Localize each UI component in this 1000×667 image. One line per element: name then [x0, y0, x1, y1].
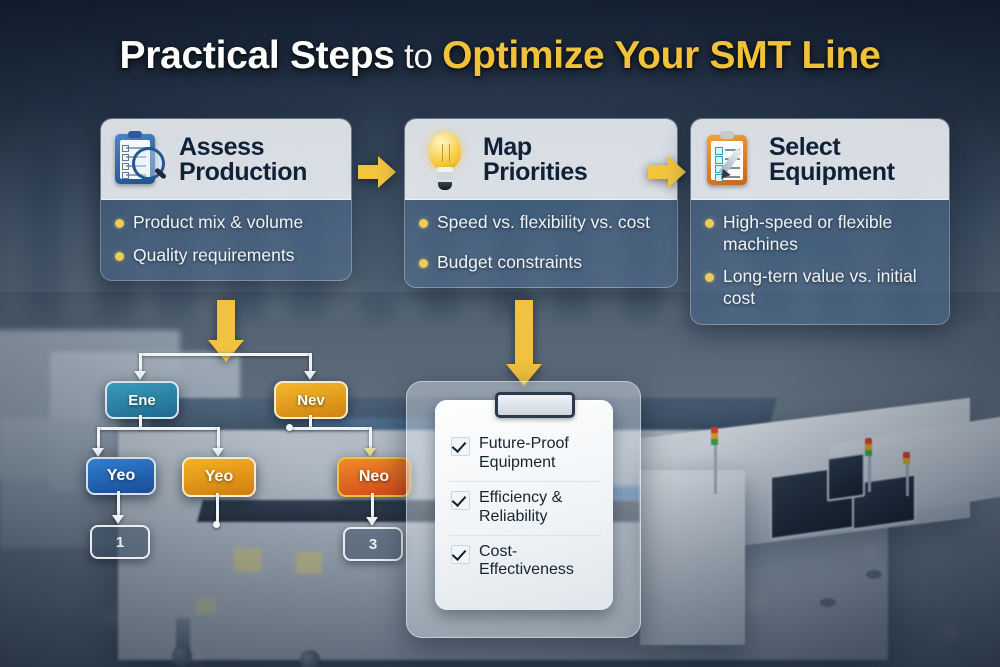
clipboard-magnifier-icon — [113, 131, 169, 189]
flow-terminal-3[interactable]: 3 — [343, 527, 403, 561]
title-part-optimize: Optimize Your SMT Line — [442, 34, 880, 77]
flow-node-yeo-gold[interactable]: Yeo — [182, 457, 256, 497]
flow-junction-dot-nev — [286, 424, 293, 431]
bullet-dot-icon — [705, 219, 714, 228]
infographic-canvas: Practical Steps to Optimize Your SMT Lin… — [0, 0, 1000, 667]
flow-arrowhead-to-nev — [304, 371, 316, 380]
arrow-right-step1-to-step2 — [358, 156, 398, 188]
step-card-2-title-line2: Priorities — [483, 160, 587, 186]
step-card-assess-production[interactable]: Assess Production Product mix & volume Q… — [100, 118, 352, 281]
checklist-item-3-line2: Effectiveness — [479, 561, 574, 578]
checklist-items: Future-Proof Equipment Efficiency & Reli… — [449, 428, 601, 588]
step-card-2-header: Map Priorities — [405, 119, 677, 200]
step-card-1-bullet-1-text: Product mix & volume — [133, 212, 303, 234]
flow-node-yeo-blue-label: Yeo — [107, 467, 135, 485]
step-card-3-bullet-1-text: High-speed or flexible machines — [723, 212, 935, 255]
checklist-item-efficiency[interactable]: Efficiency & Reliability — [449, 481, 601, 535]
step-card-3-header: Select Equipment — [691, 119, 949, 200]
step-card-1-title: Assess Production — [179, 135, 307, 186]
step-card-3-title: Select Equipment — [769, 135, 895, 186]
step-card-1-body: Product mix & volume Quality requirement… — [101, 200, 351, 280]
page-title: Practical Steps to Optimize Your SMT Lin… — [0, 34, 1000, 78]
step-card-3-title-line1: Select — [769, 135, 895, 161]
step-card-3-bullet-1: High-speed or flexible machines — [705, 212, 935, 255]
checklist-item-future-proof[interactable]: Future-Proof Equipment — [449, 428, 601, 481]
bullet-dot-icon — [419, 219, 428, 228]
flow-node-neo-label: Neo — [359, 468, 389, 486]
checklist-item-1-line1: Future-Proof — [479, 435, 569, 452]
flow-node-nev-label: Nev — [297, 392, 325, 409]
flow-node-yeo-blue[interactable]: Yeo — [86, 457, 156, 495]
clipboard-clip-icon — [495, 392, 575, 418]
checklist-item-2-text: Efficiency & Reliability — [479, 489, 562, 527]
step-card-2-body: Speed vs. flexibility vs. cost Budget co… — [405, 200, 677, 287]
step-card-2-title-line1: Map — [483, 135, 587, 161]
bullet-dot-icon — [419, 259, 428, 268]
bullet-dot-icon — [705, 273, 714, 282]
step-card-1-bullet-2-text: Quality requirements — [133, 245, 294, 267]
checklist-item-1-text: Future-Proof Equipment — [479, 435, 569, 473]
step-card-select-equipment[interactable]: Select Equipment High-speed or flexible … — [690, 118, 950, 325]
step-card-1-title-line1: Assess — [179, 135, 307, 161]
step-card-1-title-line2: Production — [179, 160, 307, 186]
step-card-1-bullet-1: Product mix & volume — [115, 212, 337, 234]
flow-node-neo[interactable]: Neo — [337, 457, 411, 497]
flow-node-ene-label: Ene — [128, 392, 156, 409]
arrow-down-step2-to-checklist — [506, 300, 542, 388]
checklist-item-1-line2: Equipment — [479, 454, 556, 471]
step-card-2-bullet-1-text: Speed vs. flexibility vs. cost — [437, 212, 650, 234]
checklist-item-2-line2: Reliability — [479, 508, 547, 525]
step-card-3-title-line2: Equipment — [769, 160, 895, 186]
title-part-practical-steps: Practical Steps — [120, 34, 395, 77]
checklist-panel: Future-Proof Equipment Efficiency & Reli… — [406, 381, 641, 638]
flow-connector-top-bus — [139, 353, 311, 356]
checklist-clipboard: Future-Proof Equipment Efficiency & Reli… — [435, 400, 613, 610]
checkbox-checked-icon[interactable] — [451, 545, 470, 564]
checklist-item-3-text: Cost- Effectiveness — [479, 543, 574, 581]
flow-node-nev[interactable]: Nev — [274, 381, 348, 419]
step-card-2-bullet-2: Budget constraints — [419, 252, 663, 274]
flow-terminal-1[interactable]: 1 — [90, 525, 150, 559]
bullet-dot-icon — [115, 252, 124, 261]
flow-arrowhead-to-ene — [134, 371, 146, 380]
checkbox-checked-icon[interactable] — [451, 437, 470, 456]
flow-arrowhead-to-yeo-blue — [92, 448, 104, 457]
checklist-item-2-line1: Efficiency & — [479, 489, 562, 506]
step-card-2-bullet-1: Speed vs. flexibility vs. cost — [419, 212, 663, 234]
flow-arrowhead-to-yeo-gold — [212, 448, 224, 457]
flow-diagram: Ene Nev Yeo Yeo Neo — [60, 345, 400, 560]
arrow-right-step2-to-step3 — [648, 156, 688, 188]
checklist-item-cost-effectiveness[interactable]: Cost- Effectiveness — [449, 535, 601, 589]
flow-arrowhead-to-terminal-1 — [112, 515, 124, 524]
flow-arrowhead-to-terminal-3 — [366, 517, 378, 526]
step-card-1-header: Assess Production — [101, 119, 351, 200]
flow-node-yeo-gold-label: Yeo — [205, 468, 233, 486]
checklist-item-3-line1: Cost- — [479, 543, 517, 560]
flow-endpoint-dot-yeo-gold — [213, 521, 220, 528]
step-card-2-bullet-2-text: Budget constraints — [437, 252, 582, 274]
step-card-3-bullet-2: Long-tern value vs. initial cost — [705, 266, 935, 309]
bullet-dot-icon — [115, 219, 124, 228]
flow-node-ene[interactable]: Ene — [105, 381, 179, 419]
flow-connector-nev-bus — [289, 427, 369, 430]
title-part-to: to — [404, 37, 433, 76]
flow-terminal-1-label: 1 — [116, 534, 124, 551]
lightbulb-icon — [417, 131, 473, 189]
step-card-3-bullet-2-text: Long-tern value vs. initial cost — [723, 266, 935, 309]
step-card-3-body: High-speed or flexible machines Long-ter… — [691, 200, 949, 324]
step-card-2-title: Map Priorities — [483, 135, 587, 186]
step-card-1-bullet-2: Quality requirements — [115, 245, 337, 267]
checkbox-checked-icon[interactable] — [451, 491, 470, 510]
clipboard-pencil-icon — [703, 131, 759, 189]
flow-connector-ene-bus — [97, 427, 219, 430]
step-card-map-priorities[interactable]: Map Priorities Speed vs. flexibility vs.… — [404, 118, 678, 288]
flow-terminal-3-label: 3 — [369, 536, 377, 553]
flow-arrowhead-to-neo — [364, 448, 376, 457]
